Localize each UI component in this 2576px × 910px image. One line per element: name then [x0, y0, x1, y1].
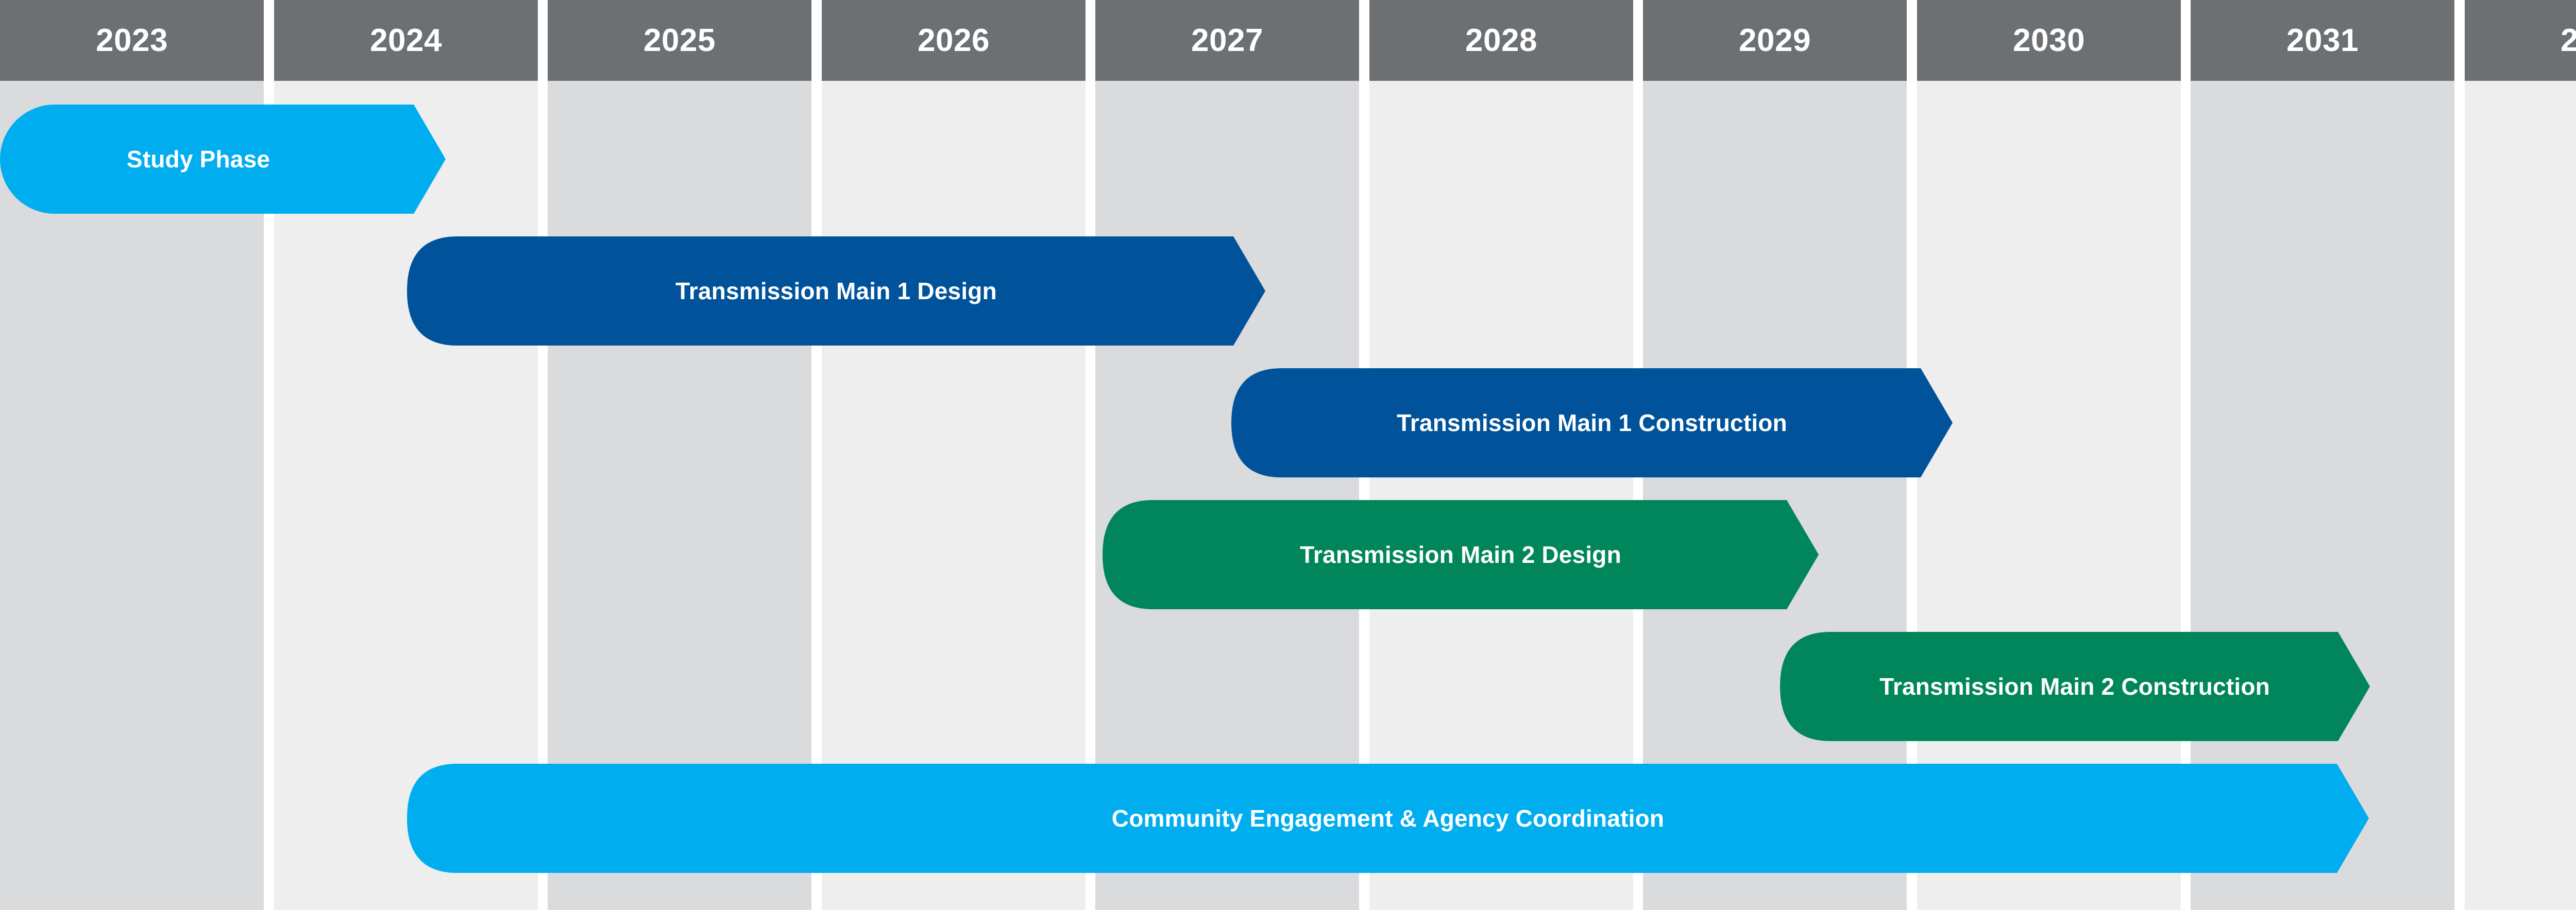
- task-bar-5[interactable]: Community Engagement & Agency Coordinati…: [407, 764, 2369, 873]
- task-bar-shape: [1103, 500, 1819, 609]
- task-bar-shape: [407, 236, 1265, 346]
- task-bar-shape: [1231, 368, 1953, 477]
- task-bar-fill: [0, 105, 446, 214]
- task-bar-2[interactable]: Transmission Main 1 Construction: [1231, 368, 1953, 477]
- task-bar-shape: [1780, 632, 2370, 741]
- task-bar-1[interactable]: Transmission Main 1 Design: [407, 236, 1265, 346]
- task-bar-4[interactable]: Transmission Main 2 Construction: [1780, 632, 2370, 741]
- task-bar-fill: [1780, 632, 2370, 741]
- task-bars-layer: Study PhaseTransmission Main 1 DesignTra…: [0, 0, 2576, 910]
- task-bar-fill: [1103, 500, 1819, 609]
- task-bar-fill: [1231, 368, 1953, 477]
- gantt-chart: 2023202420252026202720282029203020312032…: [0, 0, 2576, 910]
- task-bar-3[interactable]: Transmission Main 2 Design: [1103, 500, 1819, 609]
- task-bar-0[interactable]: Study Phase: [0, 105, 446, 214]
- task-bar-shape: [407, 764, 2369, 873]
- task-bar-shape: [0, 105, 446, 214]
- task-bar-fill: [407, 236, 1265, 346]
- task-bar-fill: [407, 764, 2369, 873]
